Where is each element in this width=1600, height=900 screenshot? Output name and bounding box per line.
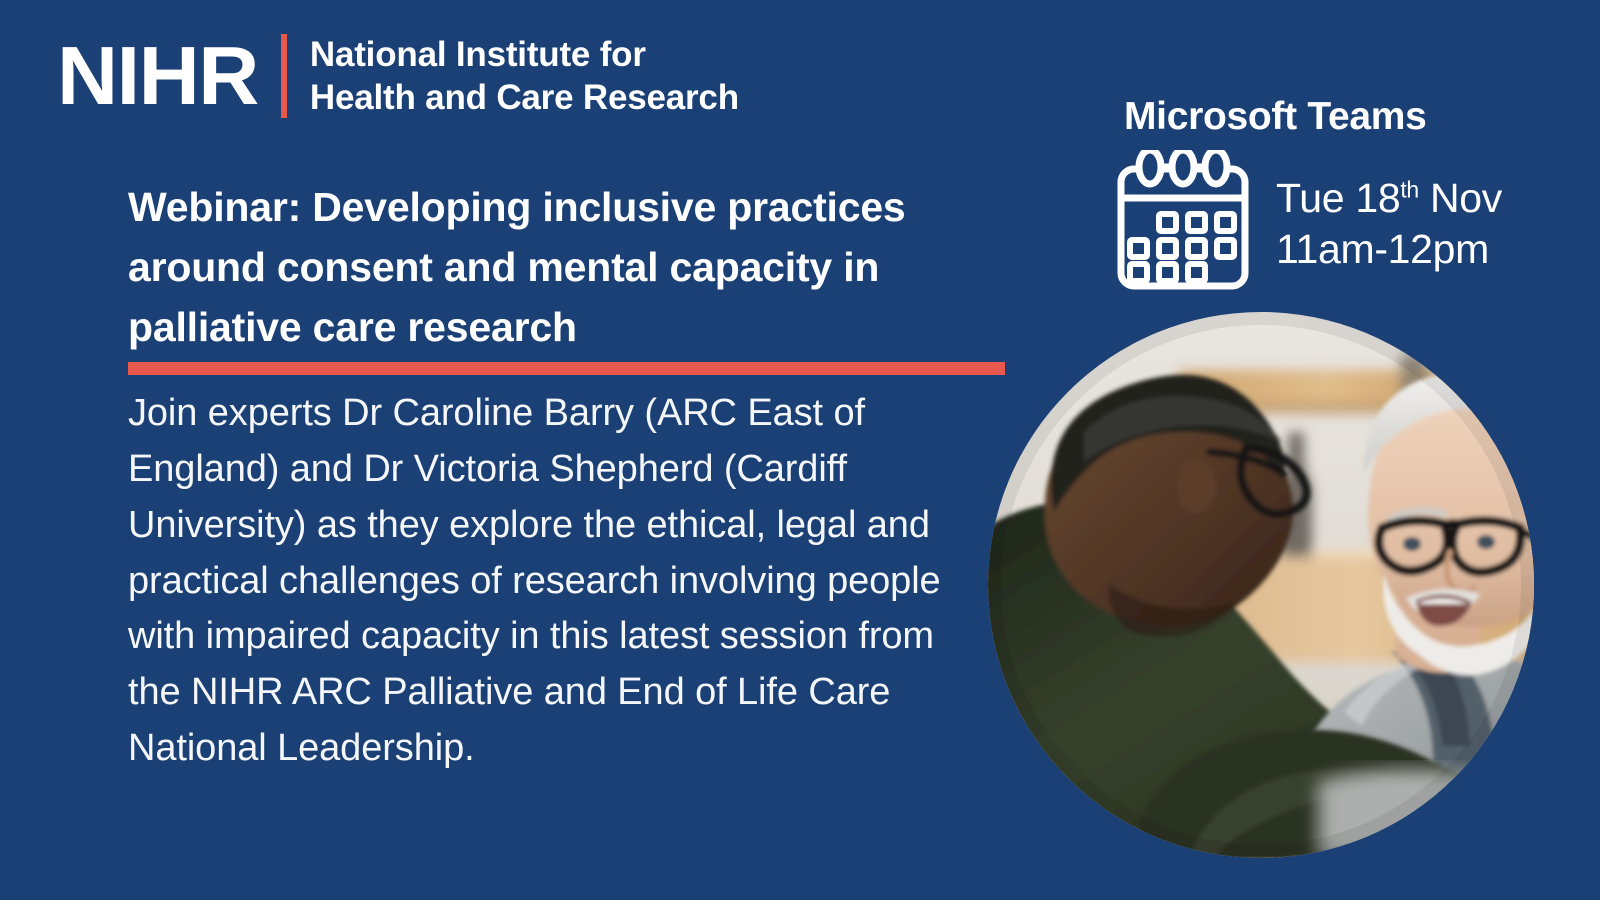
event-date-ordinal: th — [1400, 176, 1419, 202]
page-title: Webinar: Developing inclusive practices … — [128, 178, 1008, 358]
event-date-suffix: Nov — [1419, 175, 1502, 221]
event-time: 11am-12pm — [1276, 224, 1502, 275]
vertical-rule-icon — [281, 34, 287, 118]
nihr-logo-subtitle: National Institute for Health and Care R… — [310, 33, 739, 120]
platform-label: Microsoft Teams — [1124, 96, 1427, 139]
event-photo — [988, 312, 1534, 858]
event-datetime-block: Tue 18th Nov 11am-12pm — [1112, 150, 1502, 295]
event-datetime-text: Tue 18th Nov 11am-12pm — [1276, 173, 1502, 276]
calendar-icon — [1112, 150, 1254, 295]
nihr-wordmark: NIHR — [57, 38, 258, 114]
accent-divider — [128, 362, 1005, 375]
nihr-logo: NIHR National Institute for Health and C… — [57, 33, 739, 120]
webinar-promo-poster: NIHR National Institute for Health and C… — [0, 0, 1600, 900]
nihr-logo-subtitle-line2: Health and Care Research — [310, 76, 739, 119]
event-photo-illustration — [988, 312, 1534, 858]
description-text: Join experts Dr Caroline Barry (ARC East… — [128, 386, 973, 777]
nihr-logo-subtitle-line1: National Institute for — [310, 33, 739, 76]
event-date-prefix: Tue 18 — [1276, 175, 1400, 221]
event-date: Tue 18th Nov — [1276, 173, 1502, 224]
